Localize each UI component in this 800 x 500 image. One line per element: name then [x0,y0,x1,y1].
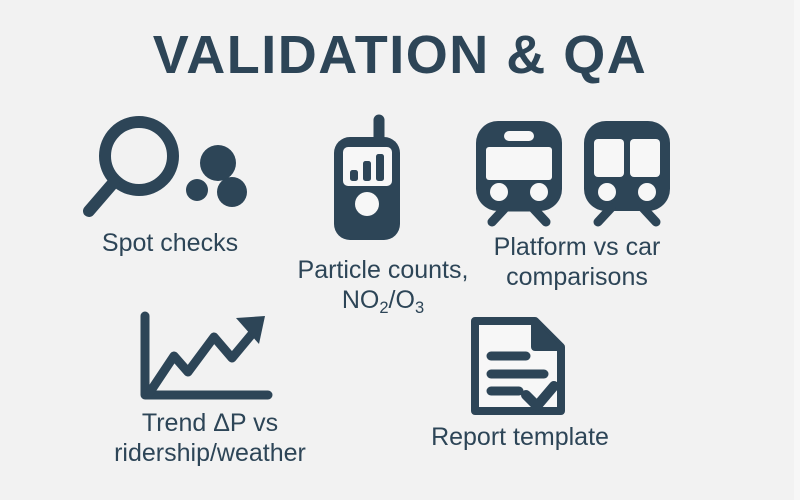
magnifier-particles-icon [78,112,268,227]
train-front-icon-a [476,121,562,222]
caption-no2-subscript: 2 [379,299,388,317]
caption-no2o3-prefix: NO [342,286,380,314]
two-trains-icon-wrap [470,118,680,228]
caption-report: Report template [400,422,640,452]
trend-chart-arrow-icon-wrap [128,310,278,405]
trend-chart-arrow-icon [128,310,278,405]
caption-report-line1: Report template [431,423,609,451]
document-checkmark-icon-wrap [466,312,570,420]
train-front-icon-b [584,121,670,222]
caption-no2o3-mid: /O [389,286,415,314]
caption-platform-vs-car-line2: comparisons [452,262,702,292]
two-trains-icon [470,118,680,228]
caption-platform-vs-car-line1: Platform vs car [452,232,702,262]
caption-spot-checks: Spot checks [40,228,300,258]
caption-o3-subscript: 3 [415,299,424,317]
page-title: VALIDATION & QA [0,24,800,86]
handheld-meter-icon [326,112,416,244]
caption-platform-vs-car: Platform vs car comparisons [452,232,702,292]
infographic-slide: VALIDATION & QA Spot checks [0,0,800,500]
caption-spot-checks-line1: Spot checks [102,229,238,257]
caption-trend-line1: Trend ΔP vs [50,408,370,438]
magnifier-particles-icon-wrap [78,112,268,227]
caption-trend: Trend ΔP vs ridership/weather [50,408,370,468]
document-checkmark-icon [466,312,570,420]
caption-trend-line2: ridership/weather [50,438,370,468]
handheld-meter-icon-wrap [326,112,416,244]
